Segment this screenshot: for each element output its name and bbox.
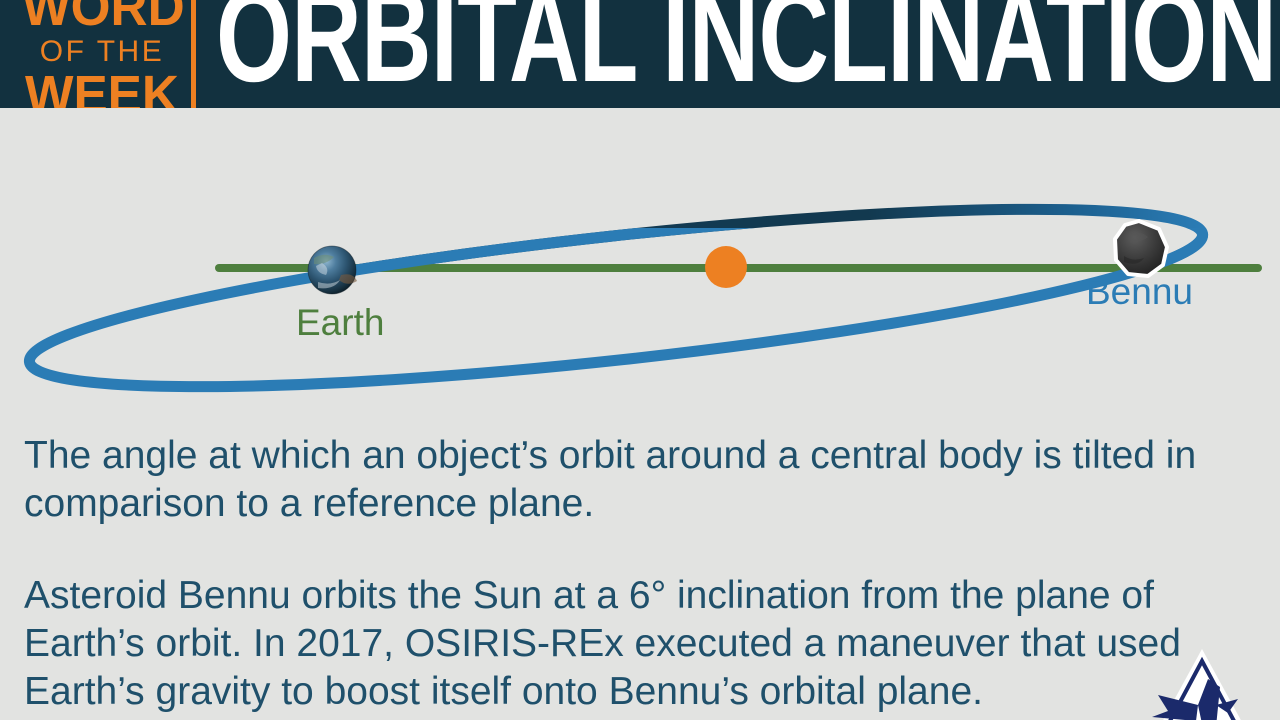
sun [705, 246, 747, 288]
earth-label: Earth [296, 304, 384, 341]
kicker-line-word: WORD [22, 0, 182, 34]
kicker-line-week: WEEK [22, 68, 182, 108]
orbit-diagram-svg [0, 108, 1280, 428]
header-bar: WORD OF THE WEEK ORBITAL INCLINATION [0, 0, 1280, 108]
earth-globe [308, 246, 357, 294]
infographic-page: WORD OF THE WEEK ORBITAL INCLINATION [0, 0, 1280, 720]
definition-paragraph: The angle at which an object’s orbit aro… [24, 432, 1264, 528]
example-paragraph: Asteroid Bennu orbits the Sun at a 6° in… [24, 572, 1264, 716]
word-of-the-week-lockup: WORD OF THE WEEK [18, 0, 186, 108]
osiris-rex-logo [1138, 643, 1266, 720]
kicker-line-of-the: OF THE [18, 37, 186, 67]
bennu-label: Bennu [1086, 273, 1193, 310]
orbit-diagram: Earth Bennu [0, 108, 1280, 428]
header-divider [191, 0, 196, 108]
page-title: ORBITAL INCLINATION [216, 0, 1276, 102]
osiris-rex-logo-icon [1138, 643, 1266, 720]
body-text-block: The angle at which an object’s orbit aro… [24, 432, 1264, 716]
bennu-asteroid [1115, 221, 1167, 276]
